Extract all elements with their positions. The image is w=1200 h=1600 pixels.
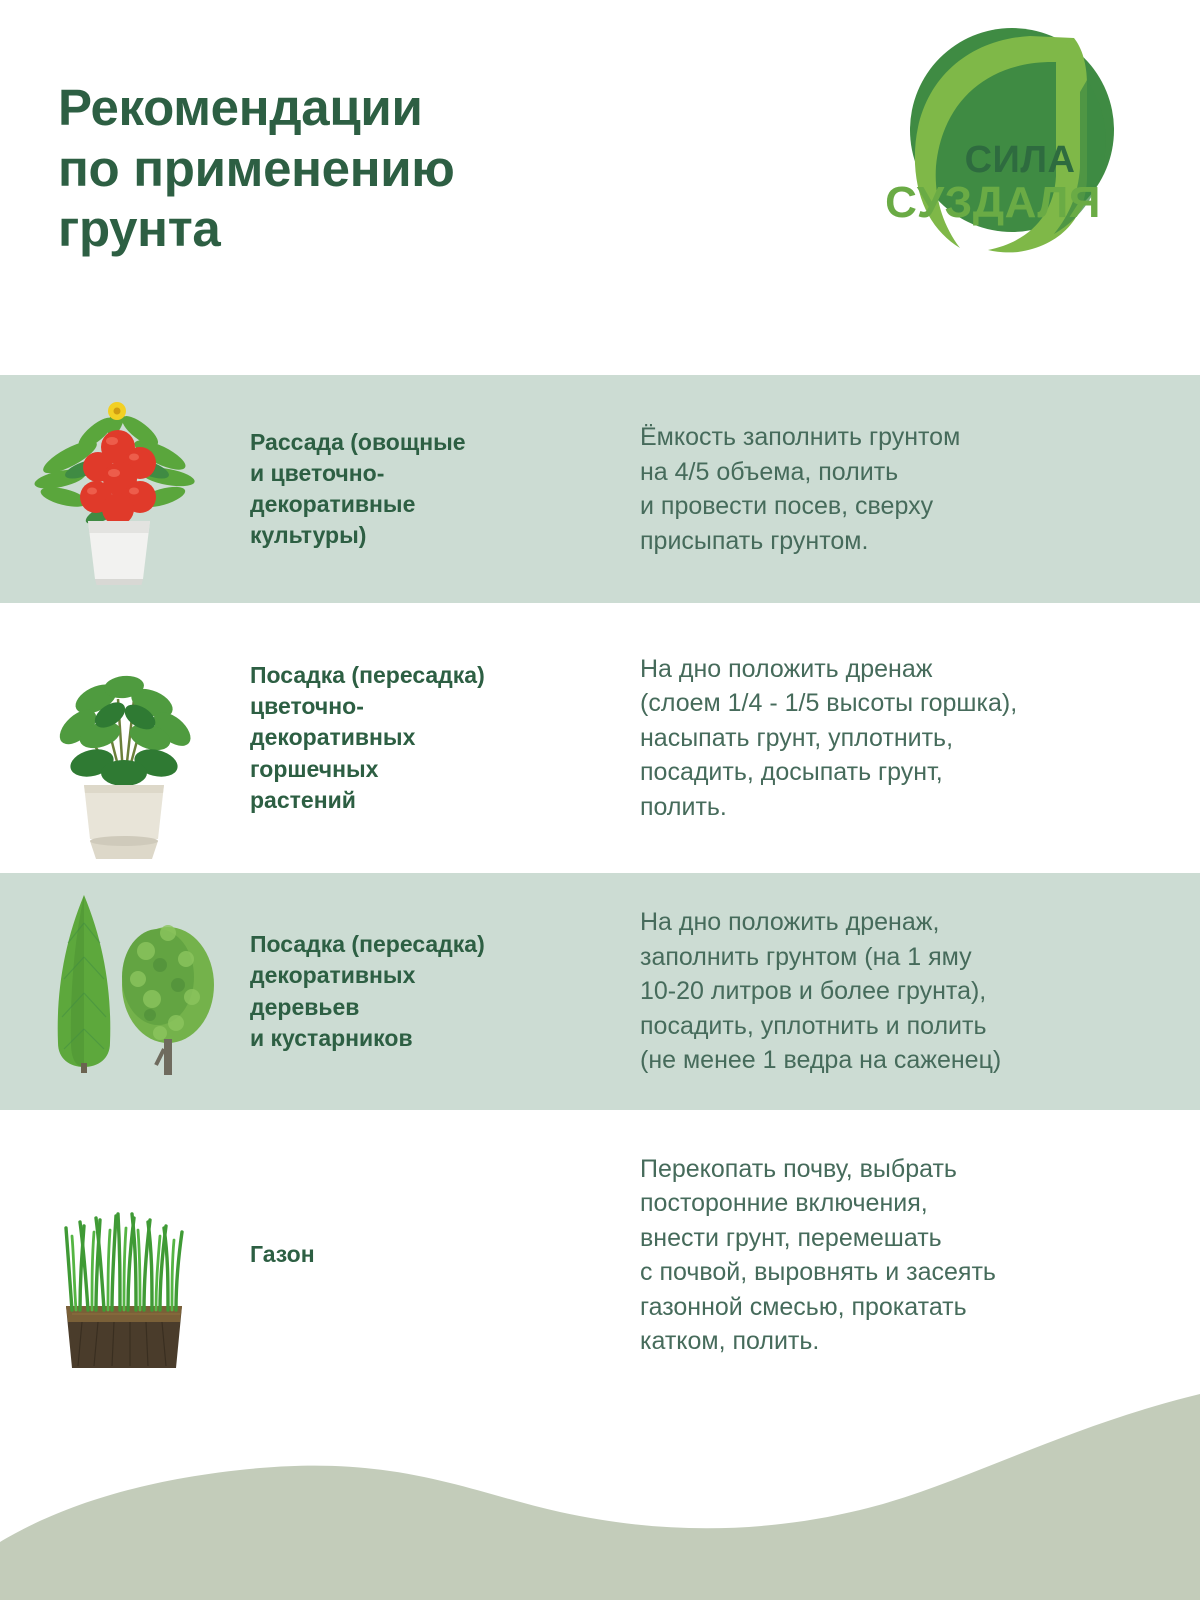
row-title: Рассада (овощные и цветочно- декоративны… [250, 427, 640, 551]
recommendations-table: Рассада (овощные и цветочно- декоративны… [0, 375, 1200, 1400]
row-image-cell [0, 873, 250, 1110]
table-row: Посадка (пересадка) декоративных деревье… [0, 873, 1200, 1110]
bottom-wave-decoration [0, 1370, 1200, 1600]
row-title: Посадка (пересадка) декоративных деревье… [250, 929, 640, 1053]
row-description: На дно положить дренаж (слоем 1/4 - 1/5 … [640, 652, 1200, 825]
table-row: Посадка (пересадка) цветочно- декоративн… [0, 603, 1200, 873]
wave-shape [0, 1394, 1200, 1600]
row-description: На дно положить дренаж, заполнить грунто… [640, 905, 1200, 1078]
infographic-page: Рекомендации по применению грунта СИЛА С… [0, 0, 1200, 1600]
row-image-cell [0, 603, 250, 873]
row-image-cell [0, 1110, 250, 1400]
row-title: Посадка (пересадка) цветочно- декоративн… [250, 660, 640, 815]
tomato-seedling-in-pot-image [0, 375, 250, 603]
brand-logo: СИЛА СУЗДАЛЯ [888, 18, 1136, 266]
table-row: Рассада (овощные и цветочно- декоративны… [0, 375, 1200, 603]
potted-houseplant-image [0, 603, 250, 873]
row-title: Газон [250, 1239, 640, 1270]
page-title: Рекомендации по применению грунта [58, 78, 698, 260]
lawn-turf-block-image [0, 1110, 250, 1400]
row-description: Перекопать почву, выбрать посторонние вк… [640, 1152, 1200, 1359]
ornamental-trees-and-shrubs-image [0, 873, 250, 1110]
table-row: Газон Перекопать почву, выбрать посторон… [0, 1110, 1200, 1400]
row-image-cell [0, 375, 250, 603]
page-header: Рекомендации по применению грунта СИЛА С… [0, 0, 1200, 375]
row-description: Ёмкость заполнить грунтом на 4/5 объема,… [640, 420, 1200, 558]
